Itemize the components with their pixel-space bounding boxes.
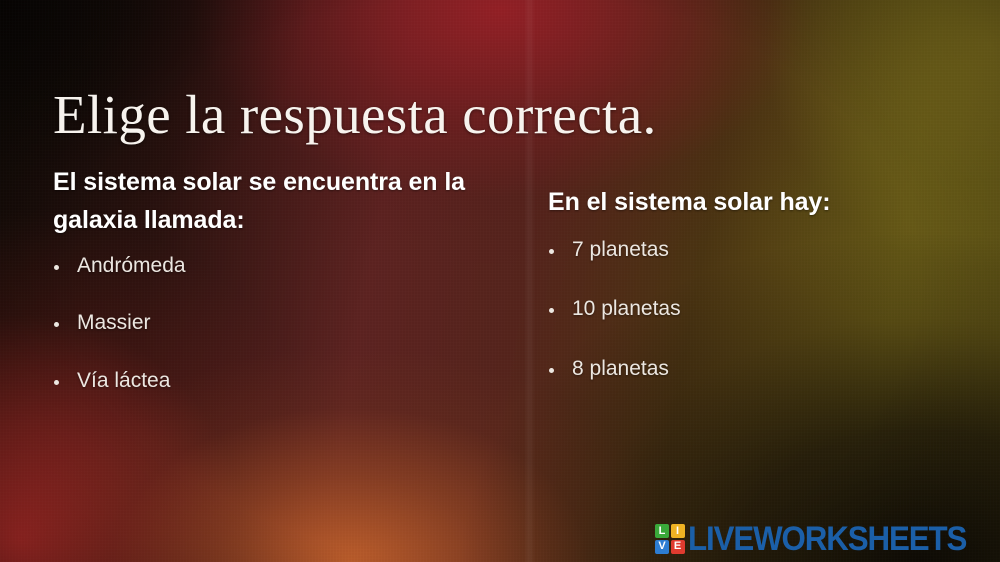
- answer-option[interactable]: Andrómeda: [53, 253, 523, 279]
- answer-option[interactable]: 8 planetas: [548, 356, 968, 382]
- bullet-icon: [549, 308, 554, 313]
- slide-content: Elige la respuesta correcta. El sistema …: [0, 0, 1000, 562]
- answer-option-label: Andrómeda: [77, 254, 186, 277]
- bullet-icon: [549, 368, 554, 373]
- logo-tile-l: L: [655, 524, 669, 538]
- question-heading: En el sistema solar hay:: [548, 183, 968, 221]
- liveworksheets-wordmark: LIVEWORKSHEETS: [688, 522, 966, 556]
- answer-option-label: Vía láctea: [77, 369, 170, 392]
- bullet-icon: [54, 265, 59, 270]
- answer-options-galaxia: Andrómeda Massier Vía láctea: [53, 253, 523, 394]
- liveworksheets-logo[interactable]: L I V E LIVEWORKSHEETS: [655, 522, 990, 556]
- bullet-icon: [549, 249, 554, 254]
- question-column-galaxia: El sistema solar se encuentra en la gala…: [53, 163, 523, 394]
- answer-option-label: 7 planetas: [572, 238, 669, 261]
- question-column-planetas: En el sistema solar hay: 7 planetas 10 p…: [548, 183, 968, 382]
- logo-tile-e: E: [671, 540, 685, 554]
- answer-option[interactable]: Vía láctea: [53, 368, 523, 394]
- answer-options-planetas: 7 planetas 10 planetas 8 planetas: [548, 237, 968, 382]
- answer-option[interactable]: Massier: [53, 310, 523, 336]
- page-title: Elige la respuesta correcta.: [53, 85, 657, 144]
- slide-canvas: Elige la respuesta correcta. El sistema …: [0, 0, 1000, 562]
- logo-tile-v: V: [655, 540, 669, 554]
- question-heading: El sistema solar se encuentra en la gala…: [53, 163, 523, 239]
- liveworksheets-tiles-icon: L I V E: [655, 524, 685, 554]
- answer-option-label: Massier: [77, 311, 151, 334]
- answer-option[interactable]: 10 planetas: [548, 296, 968, 322]
- bullet-icon: [54, 380, 59, 385]
- answer-option-label: 10 planetas: [572, 297, 681, 320]
- bullet-icon: [54, 322, 59, 327]
- logo-tile-i: I: [671, 524, 685, 538]
- answer-option-label: 8 planetas: [572, 357, 669, 380]
- answer-option[interactable]: 7 planetas: [548, 237, 968, 263]
